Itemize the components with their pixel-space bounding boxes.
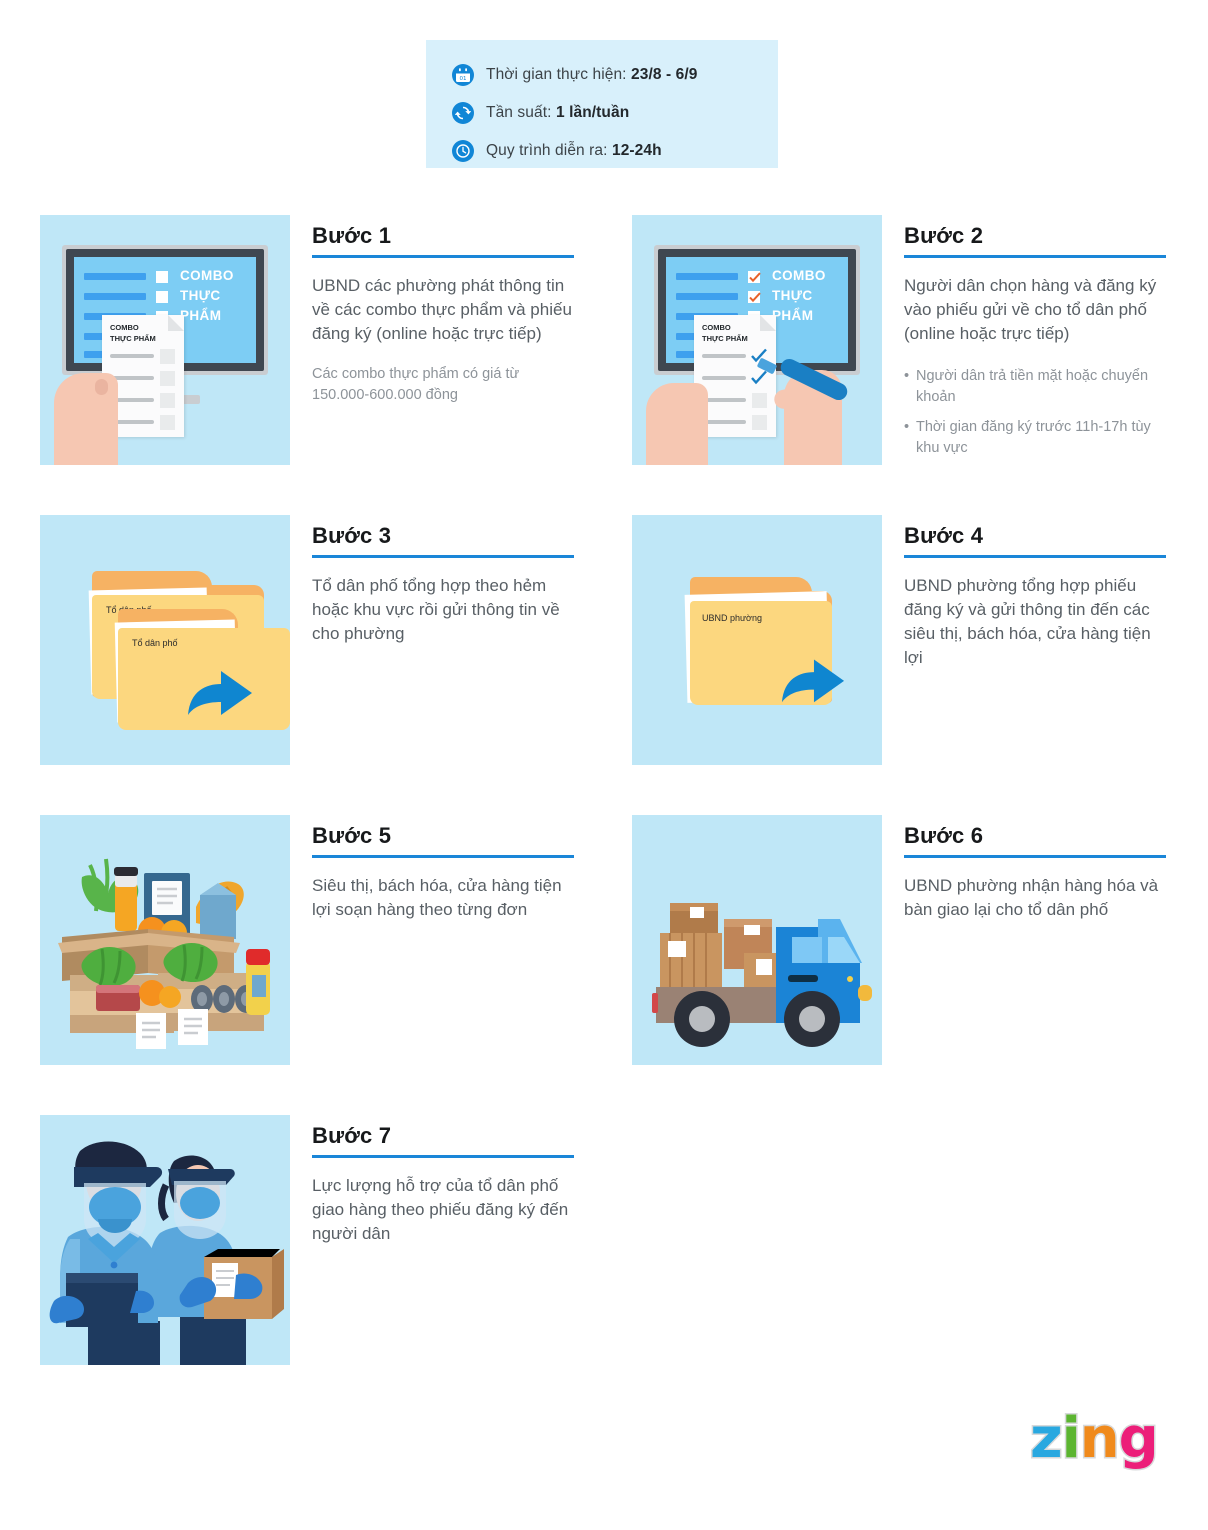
step-6-rule (904, 855, 1166, 858)
delivery-workers-art (40, 1115, 290, 1365)
step-6-description: UBND phường nhận hàng hóa và bàn giao lạ… (904, 874, 1166, 922)
screen-check-1 (748, 270, 762, 284)
summary-box: 01 Thời gian thực hiện: 23/8 - 6/9 Tần s… (426, 40, 778, 168)
logo-letter-n: n (1080, 1406, 1119, 1471)
step-4-title: Bước 4 (904, 523, 1177, 555)
step-3-illustration: Tổ dân phố Tổ dân phố (40, 515, 290, 765)
step-5-body: Bước 5 Siêu thị, bách hóa, cửa hàng tiện… (290, 815, 585, 1070)
svg-text:01: 01 (460, 76, 467, 82)
summary-row-duration: 01 Thời gian thực hiện: 23/8 - 6/9 (452, 58, 752, 92)
zing-logo: zing (1030, 1406, 1158, 1471)
step-6-body: Bước 6 UBND phường nhận hàng hóa và bàn … (882, 815, 1177, 1070)
summary-process-time-text: Quy trình diễn ra: 12-24h (486, 142, 662, 160)
step-card-1: COMBO THỰC PHẨM COMBO THỰC PHẨM Bước 1 U… (40, 215, 585, 470)
summary-frequency-text: Tần suất: 1 lần/tuần (486, 104, 629, 122)
step-4-body: Bước 4 UBND phường tổng hợp phiếu đăng k… (882, 515, 1177, 770)
truck-art (632, 815, 882, 1065)
step-3-body: Bước 3 Tổ dân phố tổng hợp theo hẻm hoặc… (290, 515, 585, 770)
form-check-2 (750, 369, 768, 387)
step-7-rule (312, 1155, 574, 1158)
step-7-title: Bước 7 (312, 1123, 585, 1155)
step-6-illustration (632, 815, 882, 1065)
step-card-2: COMBO THỰC PHẨM COMBO THỰC PHẨM (632, 215, 1177, 470)
step-2-illustration: COMBO THỰC PHẨM COMBO THỰC PHẨM (632, 215, 882, 465)
step-1-rule (312, 255, 574, 258)
step-1-body: Bước 1 UBND các phường phát thông tin về… (290, 215, 585, 470)
step-1-note: Các combo thực phẩm có giá từ 150.000-60… (312, 364, 574, 406)
step-3-description: Tổ dân phố tổng hợp theo hẻm hoặc khu vự… (312, 574, 574, 646)
logo-letter-i: i (1062, 1406, 1080, 1471)
step-2-description: Người dân chọn hàng và đăng ký vào phiếu… (904, 274, 1166, 346)
step-2-rule (904, 255, 1166, 258)
step-card-5: Bước 5 Siêu thị, bách hóa, cửa hàng tiện… (40, 815, 585, 1070)
summary-row-process-time: Quy trình diễn ra: 12-24h (452, 134, 752, 168)
step-5-illustration (40, 815, 290, 1065)
step-4-description: UBND phường tổng hợp phiếu đăng ký và gử… (904, 574, 1166, 670)
groceries-art (40, 815, 290, 1065)
step-card-3: Tổ dân phố Tổ dân phố Bước 3 Tổ dân phố … (40, 515, 585, 770)
step-4-illustration: UBND phường (632, 515, 882, 765)
folder-label-single: UBND phường (702, 613, 762, 623)
step-3-rule (312, 555, 574, 558)
list-item: Thời gian đăng ký trước 11h-17h tùy khu … (904, 417, 1172, 459)
step-7-description: Lực lượng hỗ trợ của tổ dân phố giao hàn… (312, 1174, 574, 1246)
logo-letter-g: g (1119, 1406, 1158, 1471)
step-2-title: Bước 2 (904, 223, 1177, 255)
logo-letter-z: z (1030, 1406, 1062, 1471)
step-2-bullets: Người dân trả tiền mặt hoặc chuyển khoản… (904, 366, 1172, 459)
step-4-rule (904, 555, 1166, 558)
share-arrow-icon (186, 661, 254, 717)
screen-check-2 (748, 290, 762, 304)
step-6-title: Bước 6 (904, 823, 1177, 855)
share-arrow-icon (780, 649, 846, 705)
step-card-4: UBND phường Bước 4 UBND phường tổng hợp … (632, 515, 1177, 770)
folder-label-front: Tổ dân phố (132, 638, 178, 648)
step-card-7: Bước 7 Lực lượng hỗ trợ của tổ dân phố g… (40, 1115, 585, 1370)
step-5-title: Bước 5 (312, 823, 585, 855)
summary-row-frequency: Tần suất: 1 lần/tuần (452, 96, 752, 130)
step-card-6: Bước 6 UBND phường nhận hàng hóa và bàn … (632, 815, 1177, 1070)
step-2-body: Bước 2 Người dân chọn hàng và đăng ký và… (882, 215, 1177, 470)
summary-duration-text: Thời gian thực hiện: 23/8 - 6/9 (486, 66, 698, 84)
step-1-description: UBND các phường phát thông tin về các co… (312, 274, 574, 346)
step-7-body: Bước 7 Lực lượng hỗ trợ của tổ dân phố g… (290, 1115, 585, 1370)
refresh-icon (452, 102, 474, 124)
calendar-icon: 01 (452, 64, 474, 86)
step-1-illustration: COMBO THỰC PHẨM COMBO THỰC PHẨM (40, 215, 290, 465)
step-1-title: Bước 1 (312, 223, 585, 255)
step-7-illustration (40, 1115, 290, 1365)
step-3-title: Bước 3 (312, 523, 585, 555)
step-5-rule (312, 855, 574, 858)
step-5-description: Siêu thị, bách hóa, cửa hàng tiện lợi so… (312, 874, 574, 922)
list-item: Người dân trả tiền mặt hoặc chuyển khoản (904, 366, 1172, 408)
infographic-page: 01 Thời gian thực hiện: 23/8 - 6/9 Tần s… (0, 0, 1208, 1530)
clock-icon (452, 140, 474, 162)
